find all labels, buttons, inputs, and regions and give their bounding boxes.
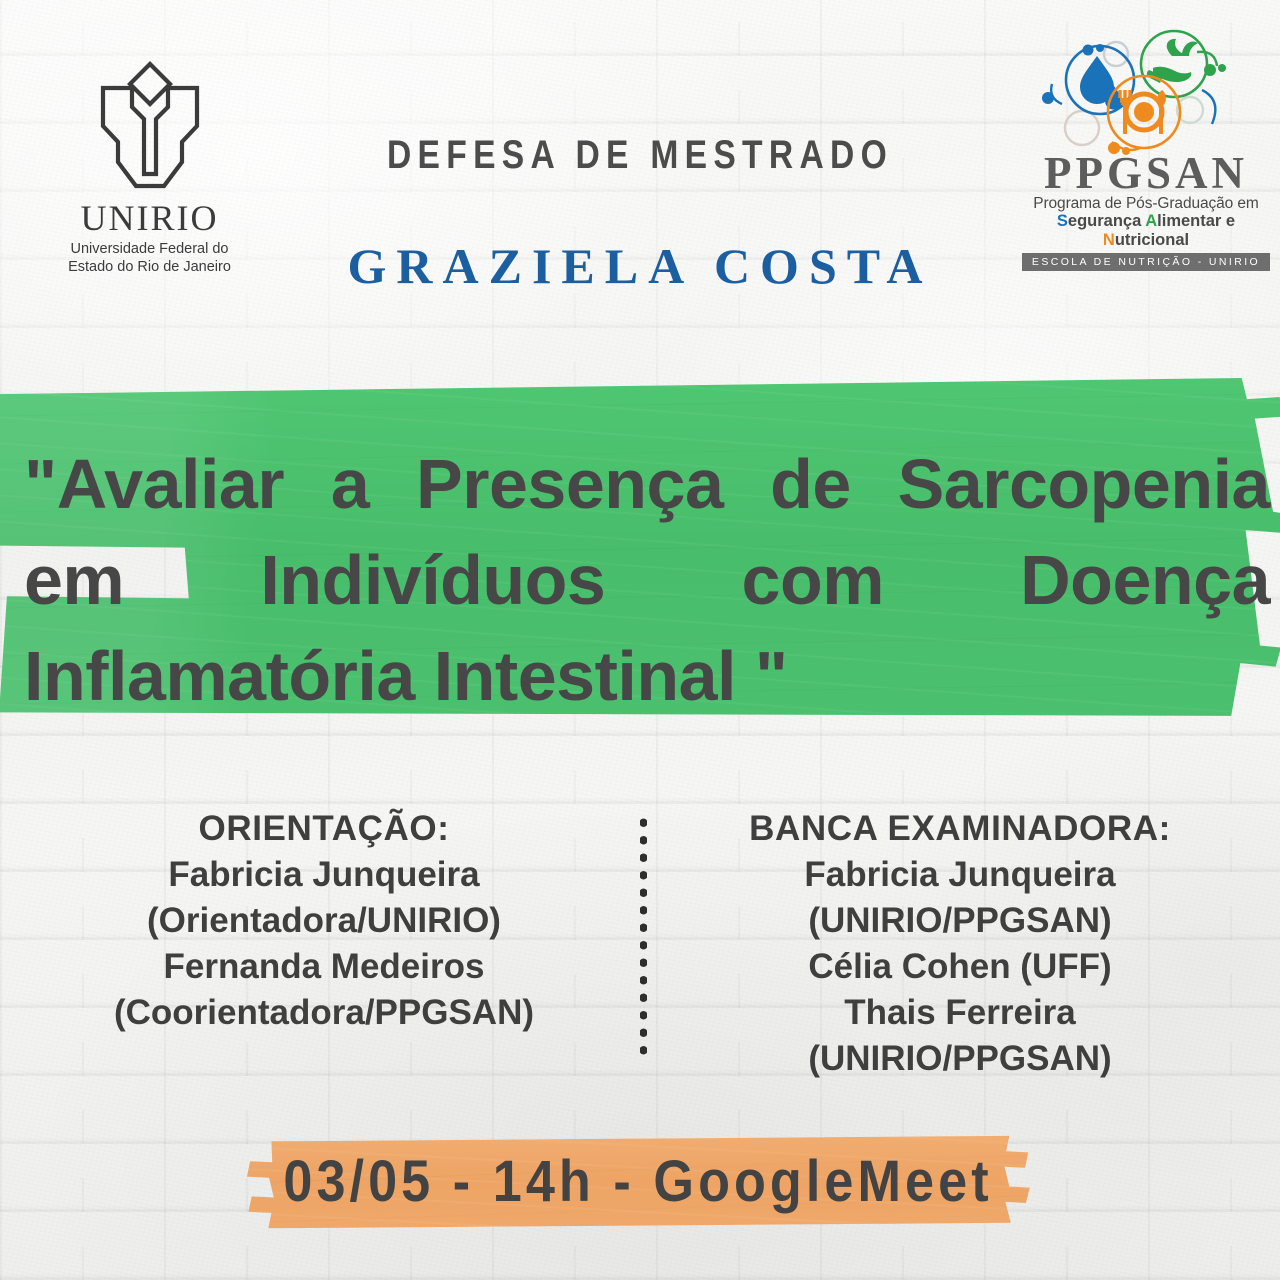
coadvisor-name: Fernanda Medeiros	[24, 944, 624, 990]
hand-with-plant-icon	[1141, 31, 1207, 97]
advisor-affil: (Orientadora/UNIRIO)	[24, 898, 624, 944]
thesis-title-line-3: Inflamatória Intestinal "	[24, 628, 1270, 724]
coadvisor-affil: (Coorientadora/PPGSAN)	[24, 990, 624, 1036]
poster-canvas: UNIRIO Universidade Federal do Estado do…	[0, 0, 1280, 1280]
ppgsan-tagline-a: A	[1145, 212, 1157, 230]
committee-member-3-affil: (UNIRIO/PPGSAN)	[660, 1036, 1260, 1082]
ppgsan-tagline-part-2: limentar e	[1157, 212, 1235, 230]
advising-column: ORIENTAÇÃO: Fabricia Junqueira (Orientad…	[24, 806, 624, 1036]
advisor-name: Fabricia Junqueira	[24, 852, 624, 898]
student-name: GRAZIELA COSTA	[0, 237, 1280, 295]
committee-member-3-name: Thais Ferreira	[660, 990, 1260, 1036]
committee-member-2-name: Célia Cohen (UFF)	[660, 944, 1260, 990]
ppgsan-tagline-part-1: egurança	[1068, 212, 1145, 230]
ppgsan-tagline-line-1: Programa de Pós-Graduação em	[1022, 195, 1270, 212]
committee-heading: BANCA EXAMINADORA:	[660, 806, 1260, 852]
thesis-title-line-1: "Avaliar a Presença de Sarcopenia	[24, 436, 1270, 532]
unirio-wordmark: UNIRIO	[42, 200, 257, 236]
event-details: 03/05 - 14h - GoogleMeet	[283, 1148, 994, 1215]
ppgsan-tagline-s: S	[1057, 212, 1068, 230]
committee-column: BANCA EXAMINADORA: Fabricia Junqueira (U…	[660, 806, 1260, 1082]
thesis-title-line-2: em Indivíduos com Doença	[24, 532, 1270, 628]
event-type-kicker: DEFESA DE MESTRADO	[102, 133, 1177, 178]
thesis-title: "Avaliar a Presença de Sarcopenia em Ind…	[24, 436, 1270, 724]
dotted-column-divider	[640, 814, 647, 1057]
committee-member-1-name: Fabricia Junqueira	[660, 852, 1260, 898]
advising-heading: ORIENTAÇÃO:	[24, 806, 624, 852]
committee-member-1-affil: (UNIRIO/PPGSAN)	[660, 898, 1260, 944]
